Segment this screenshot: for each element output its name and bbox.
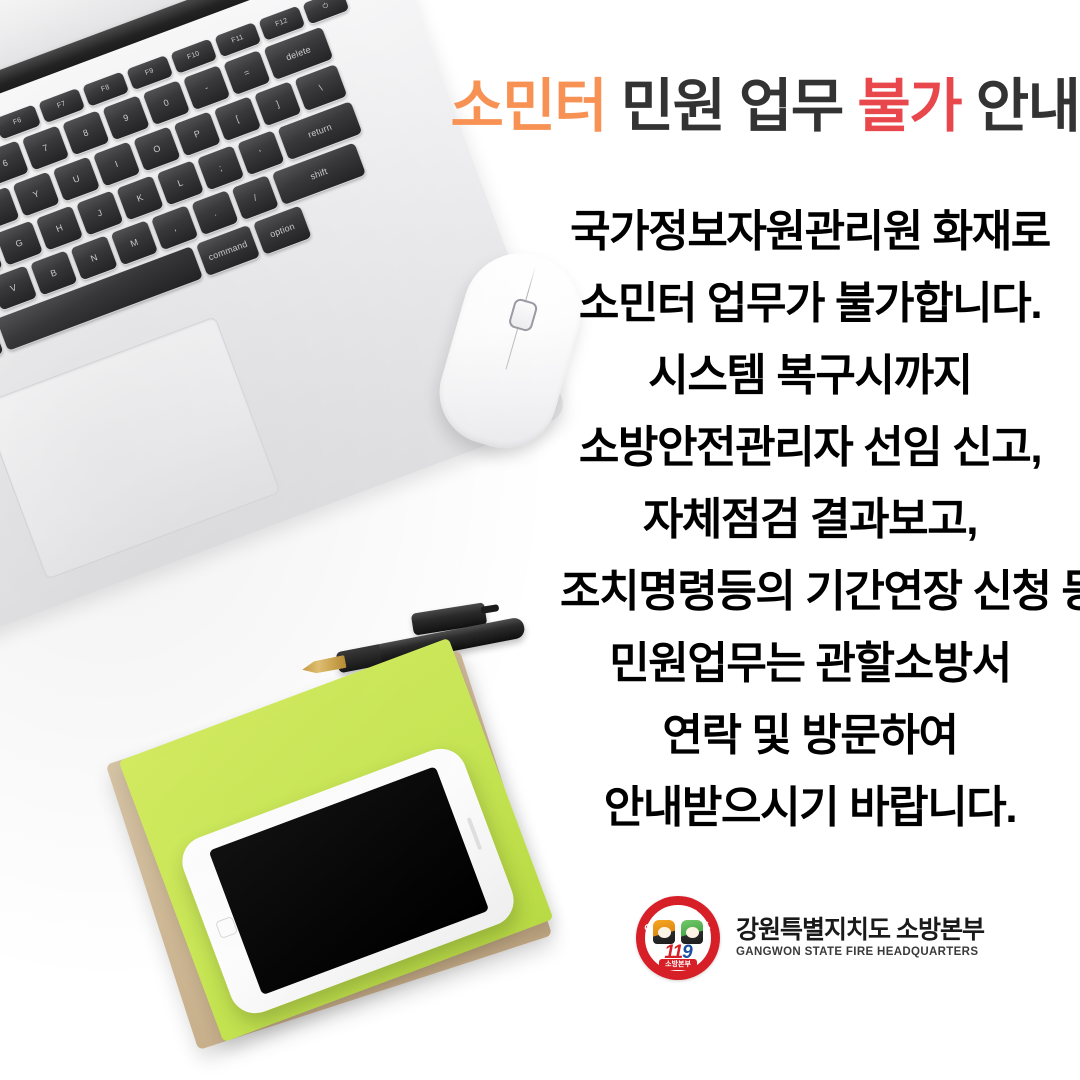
mascot-firefighter-left xyxy=(653,920,675,944)
mascot-face xyxy=(658,927,671,938)
keyboard-key: . xyxy=(191,190,239,235)
keyboard-key: G xyxy=(0,221,43,266)
keyboard-key: O xyxy=(133,126,181,171)
keyboard-key: U xyxy=(53,156,101,201)
notice-line: 소방안전관리자 선임 신고, xyxy=(560,412,1060,484)
title-segment-service: 민원 업무 xyxy=(621,74,843,139)
keyboard-key: V xyxy=(0,265,37,310)
notice-line: 안내받으시기 바랍니다. xyxy=(560,772,1060,844)
phone-earpiece xyxy=(467,817,483,850)
keyboard-key: ] xyxy=(254,81,302,126)
notice-line: 민원업무는 관할소방서 xyxy=(560,628,1060,700)
keyboard-key: B xyxy=(30,250,78,295)
title-segment-notice: 안내 xyxy=(976,74,1080,139)
keyboard-key: J xyxy=(76,190,124,235)
mascot-face xyxy=(686,927,699,938)
keyboard-key: [ xyxy=(214,96,262,141)
organization-name-en: GANGWON STATE FIRE HEADQUARTERS xyxy=(736,947,984,959)
notice-line: 소민터 업무가 불가합니다. xyxy=(560,268,1060,340)
notice-line: 연락 및 방문하여 xyxy=(560,700,1060,772)
notice-body: 국가정보자원관리원 화재로 소민터 업무가 불가합니다. 시스템 복구시까지 소… xyxy=(560,196,1060,844)
keyboard-key: N xyxy=(70,235,118,280)
notice-content: 소민터 민원 업무 불가 안내 국가정보자원관리원 화재로 소민터 업무가 불가… xyxy=(540,0,1080,1080)
mascot-firefighter-right xyxy=(681,920,703,944)
keyboard-key: , xyxy=(151,205,199,250)
organization-lockup: Gangwon State 119 소방본부 강원특별지치도 소방본부 GANG… xyxy=(540,886,1080,990)
organization-name-block: 강원특별지치도 소방본부 GANGWON STATE FIRE HEADQUAR… xyxy=(736,918,984,959)
keyboard-key: / xyxy=(231,175,279,220)
title-segment-alert: 불가 xyxy=(857,74,961,139)
title-segment-accent: 소민터 xyxy=(451,74,607,139)
pen-nib xyxy=(301,655,347,676)
organization-name-kr: 강원특별지치도 소방본부 xyxy=(736,918,984,943)
emblem-banner-label: 소방본부 xyxy=(659,959,697,970)
keyboard-key: K xyxy=(116,175,164,220)
notice-line: 시스템 복구시까지 xyxy=(560,340,1060,412)
keyboard-key: P xyxy=(173,111,221,156)
keyboard-key: M xyxy=(111,220,159,265)
keyboard-key: Y xyxy=(12,172,60,217)
desk-photo: escF1F2F3F4F5F6F7F8F9F10F11F12⏻ ~1234567… xyxy=(0,0,600,1080)
page-title: 소민터 민원 업무 불가 안내 xyxy=(450,78,1080,136)
notice-line: 국가정보자원관리원 화재로 xyxy=(560,196,1060,268)
fire-department-emblem-icon: Gangwon State 119 소방본부 xyxy=(636,896,720,980)
notice-line: 조치명령등의 기간연장 신청 등 xyxy=(560,556,1060,628)
keyboard-key: I xyxy=(93,141,141,186)
keyboard-key: L xyxy=(157,160,205,205)
notice-line: 자체점검 결과보고, xyxy=(560,484,1060,556)
keyboard-key: ; xyxy=(197,145,245,190)
poster-canvas: escF1F2F3F4F5F6F7F8F9F10F11F12⏻ ~1234567… xyxy=(0,0,1080,1080)
keyboard-key: H xyxy=(36,206,84,251)
keyboard-key: ' xyxy=(237,130,285,175)
